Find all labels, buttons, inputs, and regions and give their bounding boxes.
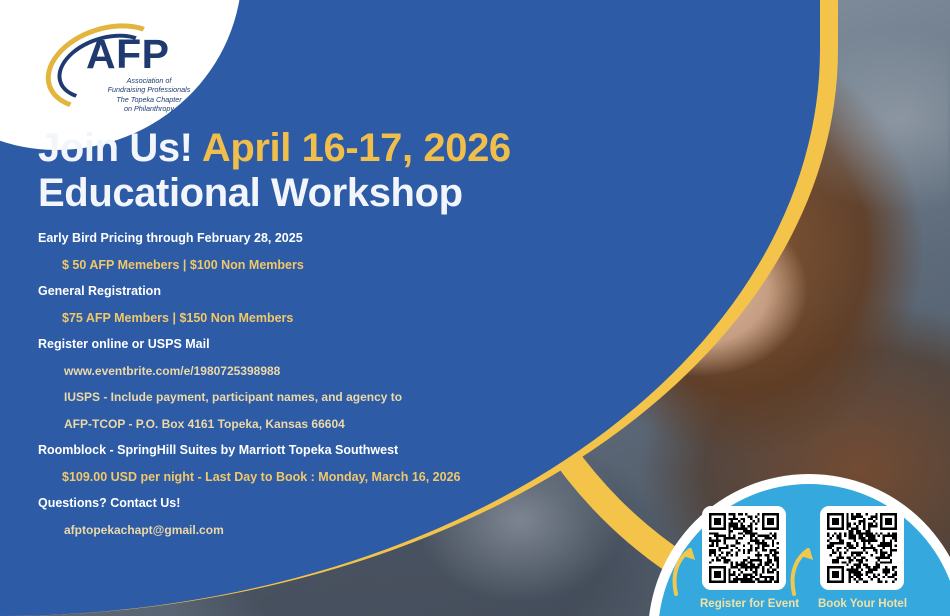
headline-line-1: Join Us! April 16-17, 2026	[38, 126, 598, 171]
logo-tagline-line-3: The Topeka Chapter	[96, 95, 202, 104]
event-detail-line-5: Register online or USPS Mail	[38, 337, 578, 351]
event-detail-line-8: AFP-TCOP - P.O. Box 4161 Topeka, Kansas …	[38, 417, 578, 431]
event-detail-line-9: Roomblock - SpringHill Suites by Marriot…	[38, 443, 578, 457]
afp-logo: AFP Association of Fundraising Professio…	[40, 24, 200, 116]
event-detail-line-3: General Registration	[38, 284, 578, 298]
event-detail-line-7: IUSPS - Include payment, participant nam…	[38, 390, 578, 404]
qr-code-icon	[709, 513, 779, 583]
event-detail-line-10: $109.00 USD per night - Last Day to Book…	[38, 470, 578, 484]
headline-dates: April 16-17, 2026	[202, 126, 511, 170]
headline-join-us: Join Us!	[38, 126, 193, 170]
qr-label-register: Register for Event	[700, 598, 799, 610]
event-detail-line-6: www.eventbrite.com/e/1980725398988	[38, 364, 578, 378]
logo-mark-text: AFP	[86, 34, 170, 75]
logo-tagline: Association of Fundraising Professionals…	[96, 76, 202, 114]
qr-code-register-for-event[interactable]	[702, 506, 786, 590]
headline-block: Join Us! April 16-17, 2026 Educational W…	[38, 126, 598, 216]
logo-tagline-line-4: on Philanthropy	[96, 104, 202, 113]
event-detail-line-2: $ 50 AFP Memebers | $100 Non Members	[38, 258, 578, 272]
event-detail-line-12: afptopekachapt@gmail.com	[38, 523, 578, 537]
qr-label-hotel: Book Your Hotel	[818, 598, 907, 610]
qr-code-book-your-hotel[interactable]	[820, 506, 904, 590]
event-detail-line-4: $75 AFP Members | $150 Non Members	[38, 311, 578, 325]
headline-line-2: Educational Workshop	[38, 171, 598, 216]
curved-arrow-icon-hotel	[788, 534, 822, 596]
event-poster: AFP Association of Fundraising Professio…	[0, 0, 950, 616]
event-detail-line-1: Early Bird Pricing through February 28, …	[38, 231, 578, 245]
curved-arrow-icon-register	[670, 534, 704, 596]
event-details-list: Early Bird Pricing through February 28, …	[38, 231, 578, 549]
logo-tagline-line-1: Association of	[96, 76, 202, 85]
event-detail-line-11: Questions? Contact Us!	[38, 496, 578, 510]
qr-code-icon	[827, 513, 897, 583]
logo-tagline-line-2: Fundraising Professionals	[96, 85, 202, 94]
